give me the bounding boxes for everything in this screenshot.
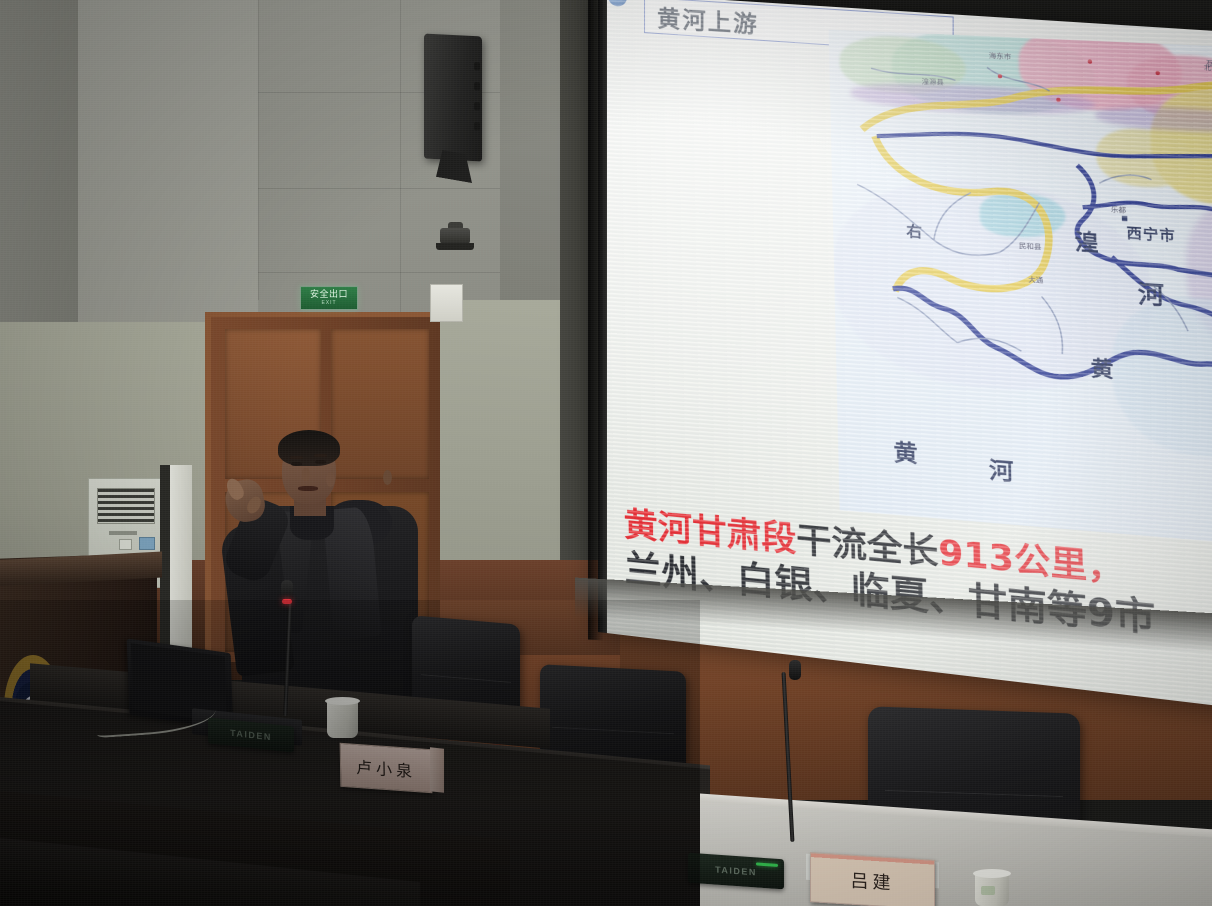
mic-brand-label: TAIDEN	[230, 728, 272, 742]
map-label-tiny-haidong: 海东市	[989, 51, 1012, 62]
wall-camera	[440, 228, 470, 244]
wall-access-panel	[430, 284, 463, 322]
map-label-huanghe-b1: 黄	[893, 433, 918, 470]
loudspeaker-icon	[424, 33, 482, 161]
exit-sign-label-en: EXIT	[321, 300, 336, 306]
map-image: 右 湟 西宁市 水 河 黄 大 黄 河 乐都 互助县 民和县 大通 湟源县 海东…	[829, 30, 1212, 547]
nameplate-stand	[430, 747, 444, 792]
microphone-capsule	[789, 660, 801, 680]
map-label-xining: 西宁市	[1126, 222, 1176, 246]
presenter-eye-left	[291, 462, 302, 466]
map-label-tiny-ledu: 乐都	[1111, 205, 1126, 216]
ac-vent-louvers	[97, 488, 155, 524]
emergency-exit-sign: 安全出口 EXIT	[300, 286, 358, 310]
presenter-eye-right	[315, 460, 326, 464]
map-label-tiny-huangyuan: 湟源县	[922, 77, 944, 88]
slide-title: 黄河上游	[645, 0, 759, 40]
presenter-hair	[278, 430, 340, 466]
map-label-huang-a: 黄	[1090, 352, 1114, 385]
nameplate-text: 卢小泉	[356, 754, 416, 782]
exit-sign-label-cn: 安全出口	[310, 290, 348, 300]
microphone-active-led	[282, 599, 292, 604]
map-label-tiny-datong: 大通	[1028, 275, 1043, 286]
paper-cup[interactable]	[327, 700, 358, 738]
nameplate-text: 吕建	[851, 867, 895, 896]
camera-mount	[436, 243, 474, 250]
slide-line1-number: 913	[938, 532, 1014, 580]
presenter-mouth	[298, 486, 318, 491]
nameplate: 卢小泉	[340, 743, 433, 794]
ac-brand-strip	[109, 531, 137, 535]
mic-brand-label: TAIDEN	[715, 865, 757, 878]
slide-bullet-icon	[608, 0, 627, 7]
ac-control-badge	[119, 539, 132, 550]
nameplate: 吕建	[810, 852, 935, 906]
map-label-you: 右	[906, 220, 922, 243]
slide-line1-unit: 公里，	[1013, 539, 1124, 591]
lecture-hall-photo: 安全出口 EXIT 黄河上游	[0, 0, 1212, 906]
presenter-nose	[302, 468, 310, 481]
map-label-huangshui: 湟	[1074, 223, 1099, 258]
mic-led-indicator	[756, 862, 778, 867]
map-label-he-right: 河	[1137, 273, 1164, 311]
map-label-tiny-minhe: 民和县	[1019, 241, 1042, 253]
paper-cup[interactable]	[975, 872, 1009, 906]
wall-pillar-white	[170, 465, 192, 665]
map-label-tiny-north: 北	[1204, 63, 1212, 74]
map-label-huanghe-b2: 河	[988, 450, 1013, 487]
screen-edge-shadow	[588, 0, 604, 640]
ac-display-badge	[139, 537, 155, 550]
